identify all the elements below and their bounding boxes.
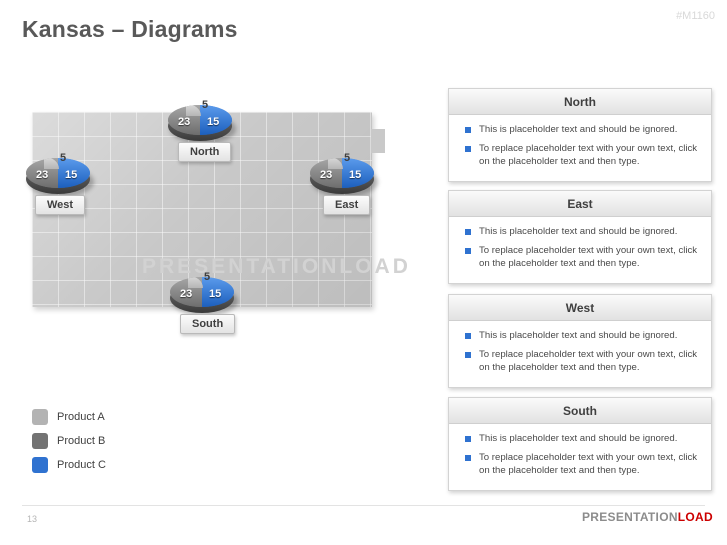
legend-item-product-a: Product A: [32, 405, 106, 429]
map-label-east[interactable]: East: [323, 195, 370, 215]
pie-value-top: 5: [204, 271, 210, 283]
bullet-item: To replace placeholder text with your ow…: [459, 451, 701, 477]
legend: Product A Product B Product C: [32, 405, 106, 477]
legend-item-product-b: Product B: [32, 429, 106, 453]
bullet-item: This is placeholder text and should be i…: [459, 329, 701, 342]
bullet-square-icon: [465, 352, 471, 358]
panel-title: East: [449, 191, 711, 217]
pie-value-top: 5: [202, 99, 208, 111]
legend-label: Product A: [57, 411, 105, 423]
document-code: #M1160: [676, 10, 715, 22]
legend-swatch-icon: [32, 409, 48, 425]
brand-second: LOAD: [678, 510, 713, 524]
bullet-text: This is placeholder text and should be i…: [479, 329, 677, 342]
bullet-item: To replace placeholder text with your ow…: [459, 348, 701, 374]
panel-north[interactable]: North This is placeholder text and shoul…: [448, 88, 712, 182]
legend-swatch-icon: [32, 433, 48, 449]
panel-title: West: [449, 295, 711, 321]
bullet-text: This is placeholder text and should be i…: [479, 123, 677, 136]
legend-label: Product B: [57, 435, 105, 447]
bullet-item: To replace placeholder text with your ow…: [459, 244, 701, 270]
pie-value-top: 5: [60, 152, 66, 164]
footer-divider: [22, 505, 705, 506]
map-marker-east[interactable]: 23 15 5 East: [310, 148, 384, 208]
map-marker-west[interactable]: 23 15 5 West: [26, 148, 100, 208]
pie-chart-north: 23 15 5: [168, 105, 234, 141]
kansas-map: PRESENTATIONLOAD 23 15 5 North: [22, 95, 417, 385]
legend-swatch-icon: [32, 457, 48, 473]
bullet-square-icon: [465, 455, 471, 461]
panel-title: South: [449, 398, 711, 424]
pie-value-left: 23: [320, 169, 332, 181]
pie-value-right: 15: [207, 116, 219, 128]
bullet-item: To replace placeholder text with your ow…: [459, 142, 701, 168]
bullet-text: This is placeholder text and should be i…: [479, 225, 677, 238]
bullet-square-icon: [465, 146, 471, 152]
legend-item-product-c: Product C: [32, 453, 106, 477]
map-marker-north[interactable]: 23 15 5 North: [168, 95, 242, 155]
pie-value-right: 15: [209, 288, 221, 300]
page-number: 13: [27, 514, 37, 524]
bullet-item: This is placeholder text and should be i…: [459, 432, 701, 445]
pie-value-left: 23: [180, 288, 192, 300]
bullet-text: To replace placeholder text with your ow…: [479, 142, 701, 168]
pie-chart-west: 23 15 5: [26, 158, 92, 194]
bullet-item: This is placeholder text and should be i…: [459, 123, 701, 136]
map-marker-south[interactable]: 23 15 5 South: [170, 267, 244, 327]
pie-value-top: 5: [344, 152, 350, 164]
panel-title: North: [449, 89, 711, 115]
panel-body: This is placeholder text and should be i…: [449, 217, 711, 286]
bullet-text: To replace placeholder text with your ow…: [479, 451, 701, 477]
legend-label: Product C: [57, 459, 106, 471]
pie-chart-east: 23 15 5: [310, 158, 376, 194]
brand-logo: PRESENTATIONLOAD: [582, 510, 713, 524]
panel-body: This is placeholder text and should be i…: [449, 424, 711, 493]
map-label-south[interactable]: South: [180, 314, 235, 334]
panel-south[interactable]: South This is placeholder text and shoul…: [448, 397, 712, 491]
bullet-square-icon: [465, 229, 471, 235]
bullet-square-icon: [465, 436, 471, 442]
pie-value-left: 23: [36, 169, 48, 181]
pie-chart-south: 23 15 5: [170, 277, 236, 313]
pie-value-right: 15: [65, 169, 77, 181]
brand-first: PRESENTATION: [582, 510, 678, 524]
bullet-text: To replace placeholder text with your ow…: [479, 244, 701, 270]
bullet-square-icon: [465, 248, 471, 254]
bullet-square-icon: [465, 333, 471, 339]
pie-value-left: 23: [178, 116, 190, 128]
panel-body: This is placeholder text and should be i…: [449, 115, 711, 184]
map-label-north[interactable]: North: [178, 142, 231, 162]
pie-value-right: 15: [349, 169, 361, 181]
bullet-text: To replace placeholder text with your ow…: [479, 348, 701, 374]
panel-west[interactable]: West This is placeholder text and should…: [448, 294, 712, 388]
page-title: Kansas – Diagrams: [22, 16, 238, 43]
bullet-text: This is placeholder text and should be i…: [479, 432, 677, 445]
bullet-item: This is placeholder text and should be i…: [459, 225, 701, 238]
bullet-square-icon: [465, 127, 471, 133]
map-label-west[interactable]: West: [35, 195, 85, 215]
panel-east[interactable]: East This is placeholder text and should…: [448, 190, 712, 284]
panel-body: This is placeholder text and should be i…: [449, 321, 711, 390]
